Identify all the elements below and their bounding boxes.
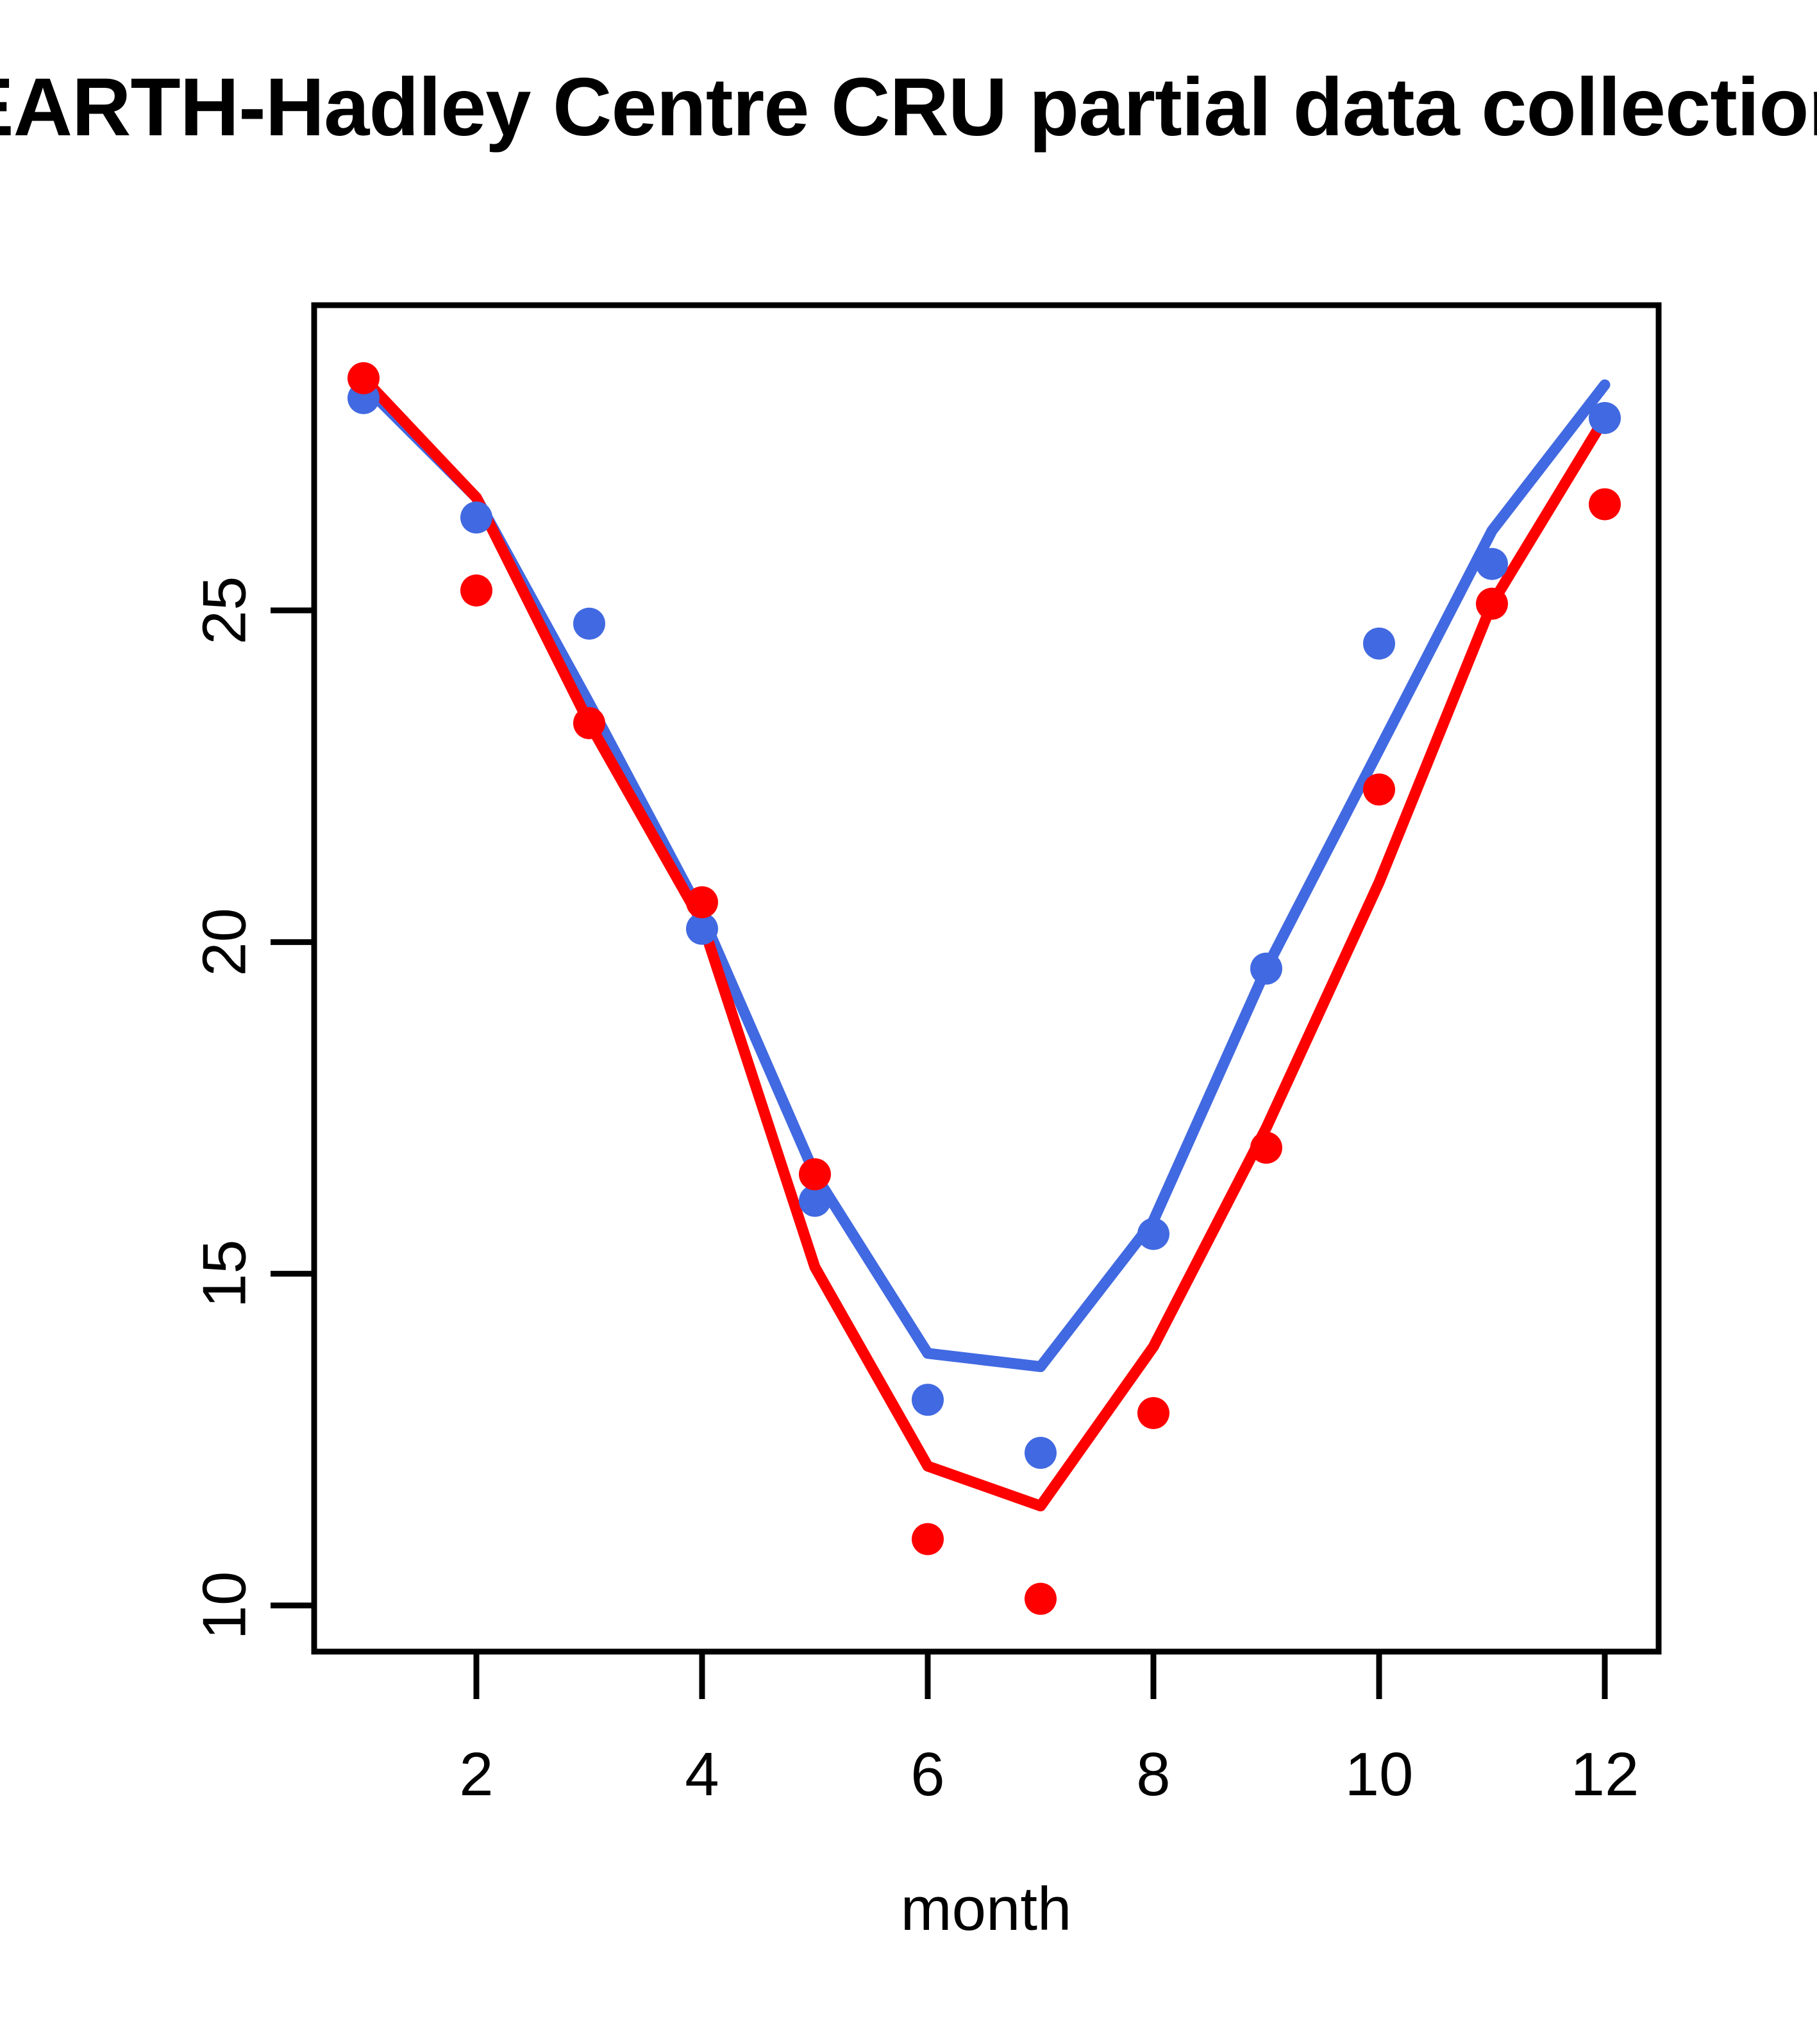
y-tick-labels: 10152025 — [190, 576, 259, 1640]
data-point — [573, 608, 605, 640]
data-point — [1589, 488, 1621, 520]
data-point — [912, 1523, 944, 1555]
y-tick-label: 15 — [190, 1239, 259, 1308]
data-point — [1363, 773, 1395, 805]
data-point — [460, 574, 492, 607]
data-point — [1476, 548, 1508, 580]
data-point — [460, 501, 492, 533]
data-point — [1363, 628, 1395, 660]
y-tick-marks — [271, 610, 314, 1605]
data-point — [1250, 1132, 1282, 1164]
x-tick-label: 2 — [459, 1740, 493, 1809]
series-line-blue-line — [364, 385, 1605, 1366]
x-axis-title: month — [901, 1875, 1072, 1943]
data-point — [1137, 1218, 1169, 1250]
data-point — [573, 707, 605, 739]
y-tick-label: 10 — [190, 1571, 259, 1640]
chart-page: EARTH-Hadley Centre CRU partial data col… — [0, 0, 1817, 2044]
x-axis: 24681012 — [459, 1652, 1639, 1809]
data-point — [1137, 1397, 1169, 1429]
series-points-blue-points — [347, 382, 1621, 1469]
x-tick-labels: 24681012 — [459, 1740, 1639, 1809]
y-axis: 10152025 — [190, 576, 315, 1640]
x-tick-label: 10 — [1345, 1740, 1414, 1809]
plot-frame — [314, 305, 1659, 1652]
data-point — [912, 1384, 944, 1416]
x-tick-label: 12 — [1571, 1740, 1639, 1809]
data-point — [799, 1158, 831, 1190]
plot-canvas: 10152025 24681012 month — [0, 0, 1817, 2044]
series-points-red-points — [347, 362, 1621, 1615]
data-point — [1589, 402, 1621, 434]
data-point — [1476, 588, 1508, 620]
data-point — [1025, 1583, 1057, 1615]
x-tick-label: 8 — [1136, 1740, 1170, 1809]
data-series-layer — [347, 362, 1621, 1615]
y-tick-label: 20 — [190, 908, 259, 976]
x-tick-label: 6 — [910, 1740, 944, 1809]
data-point — [1025, 1437, 1057, 1469]
data-point — [686, 886, 718, 918]
data-point — [1250, 953, 1282, 985]
x-tick-marks — [476, 1652, 1605, 1699]
x-tick-label: 4 — [685, 1740, 719, 1809]
series-line-red-line — [364, 378, 1605, 1506]
y-tick-label: 25 — [190, 576, 259, 645]
data-point — [347, 362, 380, 394]
